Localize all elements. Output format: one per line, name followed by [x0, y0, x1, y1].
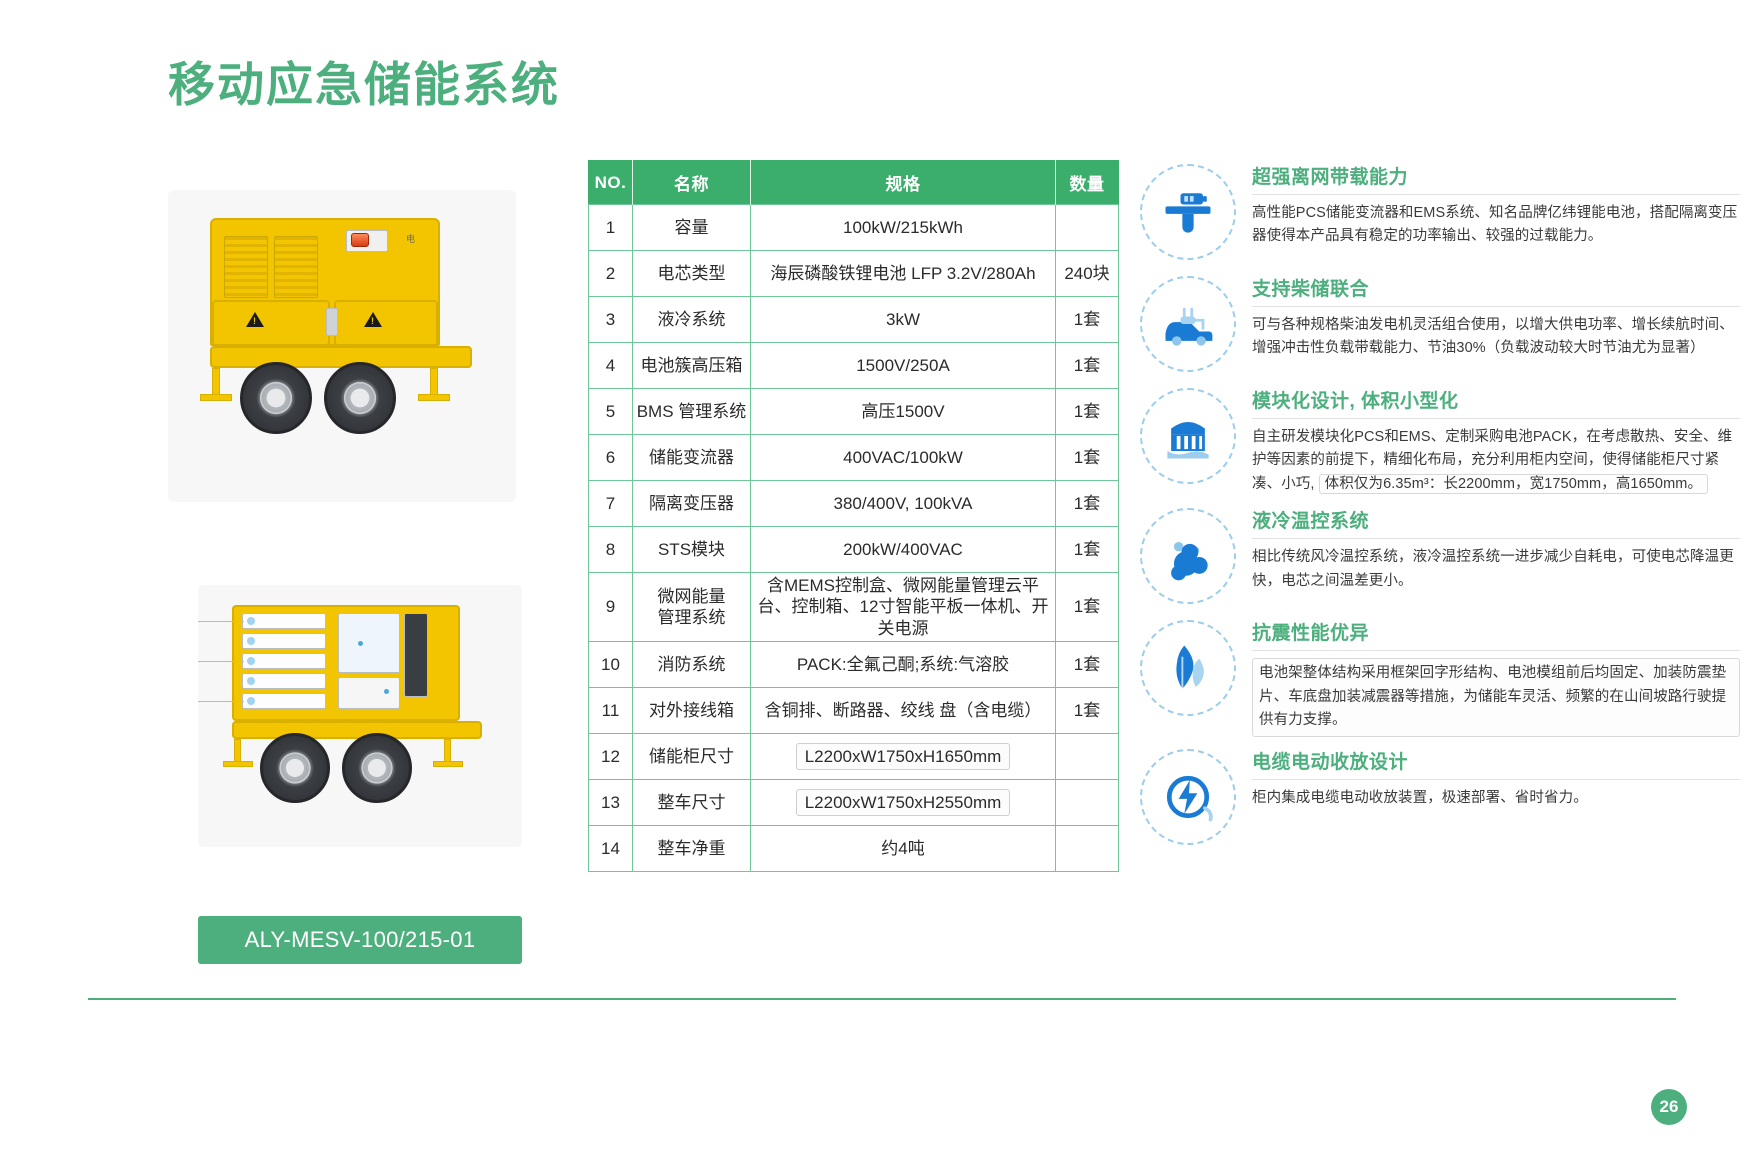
feature-divider — [1252, 306, 1740, 307]
support-leg — [234, 739, 241, 763]
cell-spec: 380/400V, 100kVA — [751, 481, 1056, 527]
callout-dot — [384, 689, 389, 694]
feature-description-highlight: 体积仅为6.35m³：长2200mm，宽1750mm，高1650mm。 — [1319, 474, 1708, 494]
warning-triangle-icon — [246, 312, 264, 327]
truck-chassis — [210, 346, 472, 368]
cell-no: 9 — [589, 573, 633, 642]
cell-qty: 1套 — [1056, 343, 1119, 389]
table-row: 4电池簇高压箱1500V/250A1套 — [589, 343, 1119, 389]
table-row: 1容量100kW/215kWh — [589, 205, 1119, 251]
support-foot — [200, 394, 232, 401]
cell-spec: 200kW/400VAC — [751, 527, 1056, 573]
modular-cabinet-icon — [1140, 388, 1236, 484]
cell-no: 7 — [589, 481, 633, 527]
spec-table: NO. 名称 规格 数量 1容量100kW/215kWh2电芯类型海辰磷酸铁锂电… — [588, 160, 1119, 872]
feature-item: 模块化设计, 体积小型化自主研发模块化PCS和EMS、定制采购电池PACK，在考… — [1140, 384, 1740, 496]
cabinet-door-left — [212, 300, 330, 346]
cell-no: 13 — [589, 779, 633, 825]
cell-name: 电池簇高压箱 — [633, 343, 751, 389]
cell-no: 2 — [589, 251, 633, 297]
cell-no: 1 — [589, 205, 633, 251]
cell-qty — [1056, 205, 1119, 251]
feature-title: 支持柴储联合 — [1252, 274, 1740, 301]
feature-body: 液冷温控系统相比传统风冷温控系统，液冷温控系统一进步减少自耗电，可使电芯降温更快… — [1252, 504, 1740, 593]
feature-item: 电缆电动收放设计柜内集成电缆电动收放装置，极速部署、省时省力。 — [1140, 745, 1740, 849]
feature-divider — [1252, 779, 1740, 780]
shock-resistant-leaf-icon — [1140, 620, 1236, 716]
callout-line — [198, 621, 244, 622]
cell-qty — [1056, 733, 1119, 779]
cell-no: 10 — [589, 641, 633, 687]
product-photo-closed: 电 — [168, 190, 516, 502]
battery-vehicle-icon — [1140, 164, 1236, 260]
feature-item: 抗震性能优异电池架整体结构采用框架回字形结构、电池模组前后均固定、加装防震垫片、… — [1140, 616, 1740, 736]
cell-name: 容量 — [633, 205, 751, 251]
wiring-box — [338, 677, 400, 709]
callout-line — [198, 661, 244, 662]
photo-open-illustration — [198, 585, 522, 847]
cell-name: BMS 管理系统 — [633, 389, 751, 435]
feature-body: 抗震性能优异电池架整体结构采用框架回字形结构、电池模组前后均固定、加装防震垫片、… — [1252, 616, 1740, 736]
cell-no: 6 — [589, 435, 633, 481]
cell-spec: PACK:全氟己酮;系统:气溶胶 — [751, 641, 1056, 687]
warning-triangle-icon — [364, 312, 382, 327]
photo-closed-illustration: 电 — [168, 190, 516, 502]
indicator-lamp — [351, 233, 369, 247]
table-row: 14整车净重约4吨 — [589, 825, 1119, 871]
model-number-badge: ALY-MESV-100/215-01 — [198, 916, 522, 964]
feature-item: 液冷温控系统相比传统风冷温控系统，液冷温控系统一进步减少自耗电，可使电芯降温更快… — [1140, 504, 1740, 608]
cell-no: 4 — [589, 343, 633, 389]
slide-root: 移动应急储能系统 电 — [0, 0, 1764, 1172]
feature-divider — [1252, 650, 1740, 651]
table-row: 7隔离变压器380/400V, 100kVA1套 — [589, 481, 1119, 527]
callout-line — [198, 701, 244, 702]
support-foot — [418, 394, 450, 401]
feature-item: 支持柴储联合可与各种规格柴油发电机灵活组合使用，以增大供电功率、增长续航时间、增… — [1140, 272, 1740, 376]
cell-spec: 海辰磷酸铁锂电池 LFP 3.2V/280Ah — [751, 251, 1056, 297]
cell-spec: 3kW — [751, 297, 1056, 343]
battery-module — [242, 633, 326, 649]
page-number-badge: 26 — [1651, 1089, 1687, 1125]
feature-description: 电池架整体结构采用框架回字形结构、电池模组前后均固定、加装防震垫片、车底盘加装减… — [1252, 658, 1740, 736]
cell-no: 5 — [589, 389, 633, 435]
feature-description: 自主研发模块化PCS和EMS、定制采购电池PACK，在考虑散热、安全、维护等因素… — [1252, 426, 1740, 496]
support-leg — [444, 739, 451, 763]
door-handle — [326, 308, 338, 336]
feature-description: 可与各种规格柴油发电机灵活组合使用，以增大供电功率、增长续航时间、增强冲击性负载… — [1252, 314, 1740, 361]
table-row: 6储能变流器400VAC/100kW1套 — [589, 435, 1119, 481]
cell-spec: 高压1500V — [751, 389, 1056, 435]
cell-qty: 1套 — [1056, 389, 1119, 435]
cell-no: 3 — [589, 297, 633, 343]
feature-title: 液冷温控系统 — [1252, 506, 1740, 533]
support-foot — [223, 761, 253, 767]
cell-qty: 1套 — [1056, 687, 1119, 733]
support-leg — [430, 368, 438, 396]
trailer-wheel — [260, 733, 330, 803]
cell-qty — [1056, 779, 1119, 825]
trailer-wheel — [342, 733, 412, 803]
feature-divider — [1252, 538, 1740, 539]
support-leg — [212, 368, 220, 396]
col-header-no: NO. — [589, 161, 633, 205]
feature-divider — [1252, 418, 1740, 419]
vent-louver — [274, 236, 318, 298]
product-photo-open — [198, 585, 522, 847]
battery-module — [242, 613, 326, 629]
cell-qty: 240块 — [1056, 251, 1119, 297]
table-header-row: NO. 名称 规格 数量 — [589, 161, 1119, 205]
table-row: 13整车尺寸L2200xW1750xH2550mm — [589, 779, 1119, 825]
col-header-spec: 规格 — [751, 161, 1056, 205]
cell-qty: 1套 — [1056, 481, 1119, 527]
battery-module — [242, 693, 326, 709]
feature-description: 柜内集成电缆电动收放装置，极速部署、省时省力。 — [1252, 787, 1740, 810]
battery-module — [242, 673, 326, 689]
table-row: 5BMS 管理系统高压1500V1套 — [589, 389, 1119, 435]
trailer-wheel — [240, 362, 312, 434]
table-row: 10消防系统PACK:全氟己酮;系统:气溶胶1套 — [589, 641, 1119, 687]
cell-name: 对外接线箱 — [633, 687, 751, 733]
cell-spec: 1500V/250A — [751, 343, 1056, 389]
cell-name: 整车净重 — [633, 825, 751, 871]
cell-qty: 1套 — [1056, 435, 1119, 481]
cell-name: 隔离变压器 — [633, 481, 751, 527]
feature-title: 抗震性能优异 — [1252, 618, 1740, 645]
page-title: 移动应急储能系统 — [168, 46, 560, 115]
table-row: 9微网能量管理系统含MEMS控制盒、微网能量管理云平台、控制箱、12寸智能平板一… — [589, 573, 1119, 642]
cell-name: 储能变流器 — [633, 435, 751, 481]
cell-name: 液冷系统 — [633, 297, 751, 343]
cell-qty: 1套 — [1056, 527, 1119, 573]
table-row: 2电芯类型海辰磷酸铁锂电池 LFP 3.2V/280Ah240块 — [589, 251, 1119, 297]
table-row: 8STS模块200kW/400VAC1套 — [589, 527, 1119, 573]
feature-body: 模块化设计, 体积小型化自主研发模块化PCS和EMS、定制采购电池PACK，在考… — [1252, 384, 1740, 496]
cable-reel-bolt-icon — [1140, 749, 1236, 845]
cell-name: 微网能量管理系统 — [633, 573, 751, 642]
feature-divider — [1252, 194, 1740, 195]
callout-dot — [358, 641, 363, 646]
cabinet-door-right — [334, 300, 438, 346]
cell-no: 8 — [589, 527, 633, 573]
inverter-cabinet — [404, 613, 428, 697]
cell-name: STS模块 — [633, 527, 751, 573]
cell-spec: 约4吨 — [751, 825, 1056, 871]
vent-louver — [224, 236, 268, 298]
cell-spec: 100kW/215kWh — [751, 205, 1056, 251]
battery-module — [242, 653, 326, 669]
brand-logo: 电 — [406, 232, 416, 245]
feature-body: 支持柴储联合可与各种规格柴油发电机灵活组合使用，以增大供电功率、增长续航时间、增… — [1252, 272, 1740, 361]
table-body: 1容量100kW/215kWh2电芯类型海辰磷酸铁锂电池 LFP 3.2V/28… — [589, 205, 1119, 872]
table-row: 12储能柜尺寸L2200xW1750xH1650mm — [589, 733, 1119, 779]
liquid-cooling-icon — [1140, 508, 1236, 604]
feature-body: 超强离网带载能力高性能PCS储能变流器和EMS系统、知名品牌亿纬锂能电池，搭配隔… — [1252, 160, 1740, 249]
feature-title: 超强离网带载能力 — [1252, 162, 1740, 189]
cell-qty: 1套 — [1056, 573, 1119, 642]
footer-divider — [88, 998, 1676, 1000]
truck-chassis — [232, 721, 482, 739]
cell-spec: L2200xW1750xH1650mm — [751, 733, 1056, 779]
cell-name: 电芯类型 — [633, 251, 751, 297]
support-foot — [433, 761, 463, 767]
feature-description: 高性能PCS储能变流器和EMS系统、知名品牌亿纬锂能电池，搭配隔离变压器使得本产… — [1252, 202, 1740, 249]
cell-no: 12 — [589, 733, 633, 779]
col-header-qty: 数量 — [1056, 161, 1119, 205]
feature-title: 模块化设计, 体积小型化 — [1252, 386, 1740, 413]
col-header-name: 名称 — [633, 161, 751, 205]
cell-spec: L2200xW1750xH2550mm — [751, 779, 1056, 825]
cell-spec: 400VAC/100kW — [751, 435, 1056, 481]
trailer-wheel — [324, 362, 396, 434]
feature-item: 超强离网带载能力高性能PCS储能变流器和EMS系统、知名品牌亿纬锂能电池，搭配隔… — [1140, 160, 1740, 264]
feature-description: 相比传统风冷温控系统，液冷温控系统一进步减少自耗电，可使电芯降温更快，电芯之间温… — [1252, 546, 1740, 593]
electric-car-plug-icon — [1140, 276, 1236, 372]
cell-spec: 含铜排、断路器、绞线 盘（含电缆） — [751, 687, 1056, 733]
cell-no: 14 — [589, 825, 633, 871]
cell-qty — [1056, 825, 1119, 871]
cell-qty: 1套 — [1056, 297, 1119, 343]
boxed-value: L2200xW1750xH2550mm — [796, 789, 1011, 816]
table-row: 3液冷系统3kW1套 — [589, 297, 1119, 343]
cell-spec: 含MEMS控制盒、微网能量管理云平台、控制箱、12寸智能平板一体机、开关电源 — [751, 573, 1056, 642]
control-cabinet — [338, 613, 400, 673]
cell-name: 消防系统 — [633, 641, 751, 687]
cell-name: 整车尺寸 — [633, 779, 751, 825]
feature-list: 超强离网带载能力高性能PCS储能变流器和EMS系统、知名品牌亿纬锂能电池，搭配隔… — [1140, 160, 1740, 857]
feature-body: 电缆电动收放设计柜内集成电缆电动收放装置，极速部署、省时省力。 — [1252, 745, 1740, 810]
boxed-value: L2200xW1750xH1650mm — [796, 743, 1011, 770]
table-row: 11对外接线箱含铜排、断路器、绞线 盘（含电缆）1套 — [589, 687, 1119, 733]
cell-qty: 1套 — [1056, 641, 1119, 687]
feature-title: 电缆电动收放设计 — [1252, 747, 1740, 774]
cell-no: 11 — [589, 687, 633, 733]
spec-table-container: NO. 名称 规格 数量 1容量100kW/215kWh2电芯类型海辰磷酸铁锂电… — [588, 160, 1118, 872]
cell-name: 储能柜尺寸 — [633, 733, 751, 779]
